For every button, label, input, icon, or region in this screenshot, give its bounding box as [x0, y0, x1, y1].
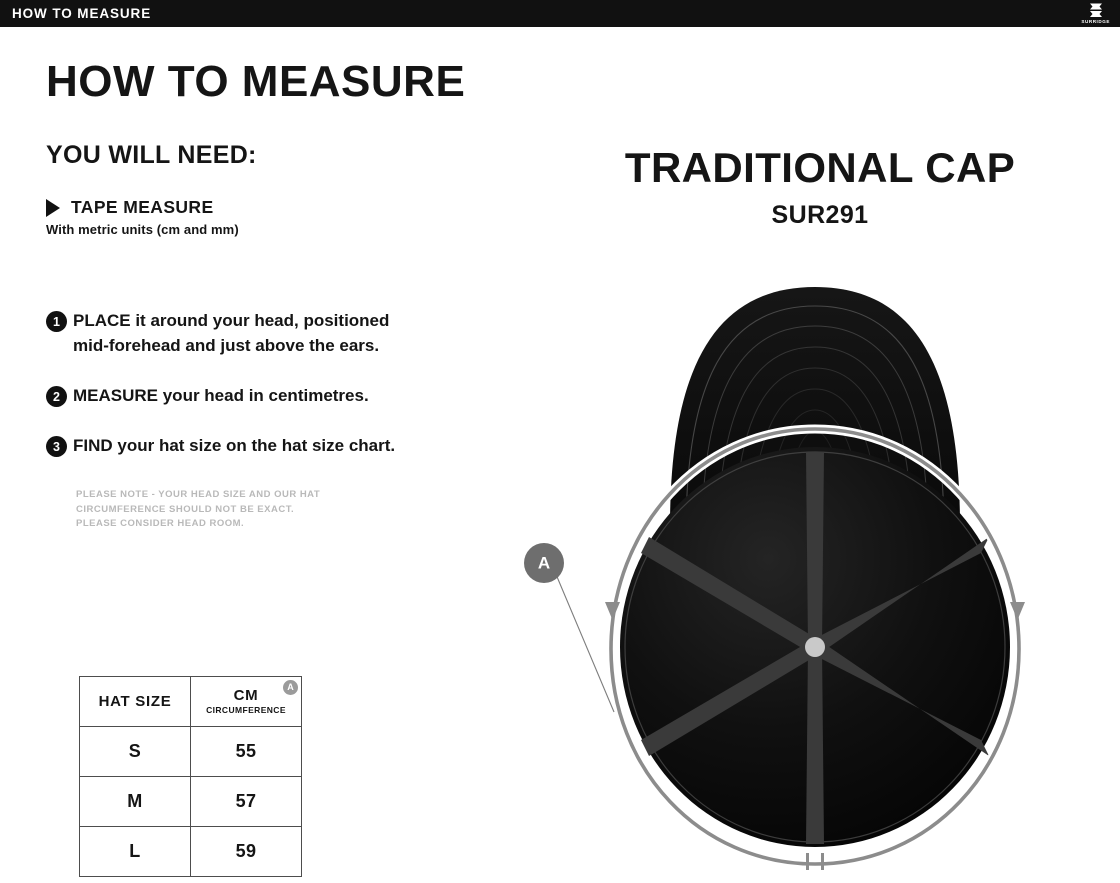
step-item: 1 PLACE it around your head, positioned … [46, 308, 516, 358]
cap-centre-button [805, 637, 825, 657]
header-hat-size: HAT SIZE [80, 677, 191, 727]
step-text: PLACE it around your head, positioned mi… [73, 308, 403, 358]
tool-detail: With metric units (cm and mm) [46, 223, 516, 236]
cell-hat-size-value: L [129, 841, 140, 861]
header-circumference-label: CIRCUMFERENCE [191, 705, 301, 715]
measure-leader-line [555, 572, 614, 712]
product-title: TRADITIONAL CAP [520, 147, 1120, 189]
cell-cm-value: 59 [236, 841, 257, 861]
product-column: TRADITIONAL CAP SUR291 [520, 27, 1120, 883]
tool-row: TAPE MEASURE [46, 199, 516, 217]
brand-logo: SURRIDGE [1081, 2, 1120, 24]
cell-cm: 59 [191, 827, 302, 877]
step-item: 3 FIND your hat size on the hat size cha… [46, 433, 516, 458]
triangle-right-icon [46, 199, 60, 217]
cell-cm-value: 57 [236, 791, 257, 811]
table-row: M 57 [80, 777, 302, 827]
step-number-badge: 3 [46, 436, 67, 457]
instructions-column: HOW TO MEASURE YOU WILL NEED: TAPE MEASU… [46, 60, 516, 532]
table-row: L 59 [80, 827, 302, 877]
page-body: HOW TO MEASURE YOU WILL NEED: TAPE MEASU… [0, 27, 1120, 883]
cap-crown [620, 447, 1010, 847]
cell-cm: 55 [191, 727, 302, 777]
step-text: MEASURE your head in centimetres. [73, 383, 369, 408]
disclaimer-note: PLEASE NOTE - YOUR HEAD SIZE AND OUR HAT… [76, 488, 516, 532]
step-number-badge: 1 [46, 311, 67, 332]
measure-badge-a: A [524, 543, 564, 583]
you-will-need-heading: YOU WILL NEED: [46, 143, 516, 168]
cap-diagram: A [510, 272, 1120, 882]
cell-hat-size-value: S [129, 741, 141, 761]
cell-hat-size: M [80, 777, 191, 827]
cell-hat-size: L [80, 827, 191, 877]
arc-tick-start [806, 853, 809, 870]
page-title: HOW TO MEASURE [46, 60, 516, 104]
brand-name: SURRIDGE [1081, 20, 1110, 25]
header-hat-size-label: HAT SIZE [99, 693, 172, 710]
cell-hat-size-value: M [127, 791, 142, 811]
table-row: S 55 [80, 727, 302, 777]
header-cm: CM CIRCUMFERENCE A [191, 677, 302, 727]
product-code: SUR291 [520, 203, 1120, 228]
surridge-s-logo-icon [1087, 2, 1105, 19]
steps-list: 1 PLACE it around your head, positioned … [46, 308, 516, 458]
cap-illustration-svg: A [510, 272, 1120, 882]
table-header-row: HAT SIZE CM CIRCUMFERENCE A [80, 677, 302, 727]
arc-tick-end [821, 853, 824, 870]
tool-name: TAPE MEASURE [71, 199, 214, 217]
hat-size-chart: HAT SIZE CM CIRCUMFERENCE A S 55 M 57 L … [79, 676, 302, 877]
top-bar: HOW TO MEASURE SURRIDGE [0, 0, 1120, 27]
step-number-badge: 2 [46, 386, 67, 407]
step-item: 2 MEASURE your head in centimetres. [46, 383, 516, 408]
step-text: FIND your hat size on the hat size chart… [73, 433, 395, 458]
measure-badge-a-icon: A [283, 680, 298, 695]
measure-badge-a-label: A [538, 554, 550, 573]
cell-cm-value: 55 [236, 741, 257, 761]
top-bar-title: HOW TO MEASURE [0, 7, 151, 21]
cell-hat-size: S [80, 727, 191, 777]
cell-cm: 57 [191, 777, 302, 827]
